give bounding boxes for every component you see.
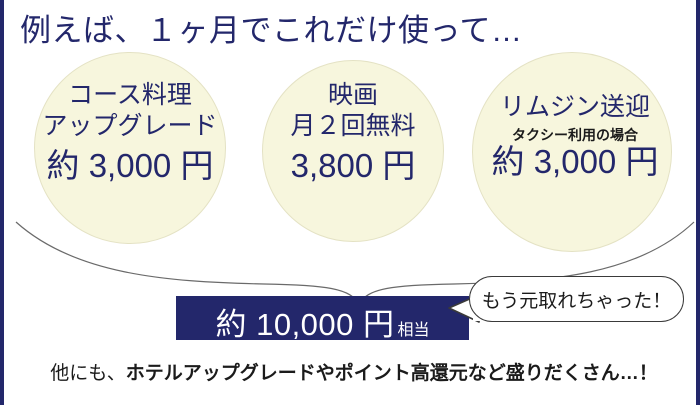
page-title: 例えば、１ヶ月でこれだけ使って… — [20, 14, 522, 48]
footer-lead: 他にも、 — [50, 363, 125, 384]
total-banner: 約 10,000 円 相当 — [176, 296, 469, 340]
total-amount: 約 10,000 円 — [215, 299, 394, 344]
benefit-group-3: リムジン送迎 タクシー利用の場合 約 3,000 円 — [456, 92, 694, 181]
benefit-title-1-line1: コース料理 — [14, 80, 246, 111]
benefit-note-3: タクシー利用の場合 — [456, 127, 694, 144]
benefit-title-2-line2: 月２回無料 — [254, 111, 452, 142]
footer-note: 他にも、ホテルアップグレードやポイント高還元など盛りだくさん…！ — [4, 358, 700, 385]
benefit-group-1: コース料理 アップグレード 約 3,000 円 — [14, 80, 246, 185]
infographic-canvas: 例えば、１ヶ月でこれだけ使って… コース料理 アップグレード 約 3,000 円… — [0, 0, 700, 405]
benefit-amount-1: 約 3,000 円 — [14, 147, 246, 185]
benefit-amount-2: 3,800 円 — [254, 147, 452, 185]
benefit-amount-3: 約 3,000 円 — [456, 143, 694, 181]
speech-bubble: もう元取れちゃった！ — [469, 276, 684, 322]
total-suffix: 相当 — [398, 316, 430, 340]
benefit-title-2-line1: 映画 — [254, 80, 452, 111]
benefit-group-2: 映画 月２回無料 3,800 円 — [254, 80, 452, 185]
footer-emphasis: ホテルアップグレードやポイント高還元など盛りだくさん…！ — [126, 363, 658, 384]
benefit-title-3-line1: リムジン送迎 — [456, 92, 694, 123]
benefit-title-1-line2: アップグレード — [14, 111, 246, 142]
speech-bubble-text: もう元取れちゃった！ — [482, 286, 671, 313]
